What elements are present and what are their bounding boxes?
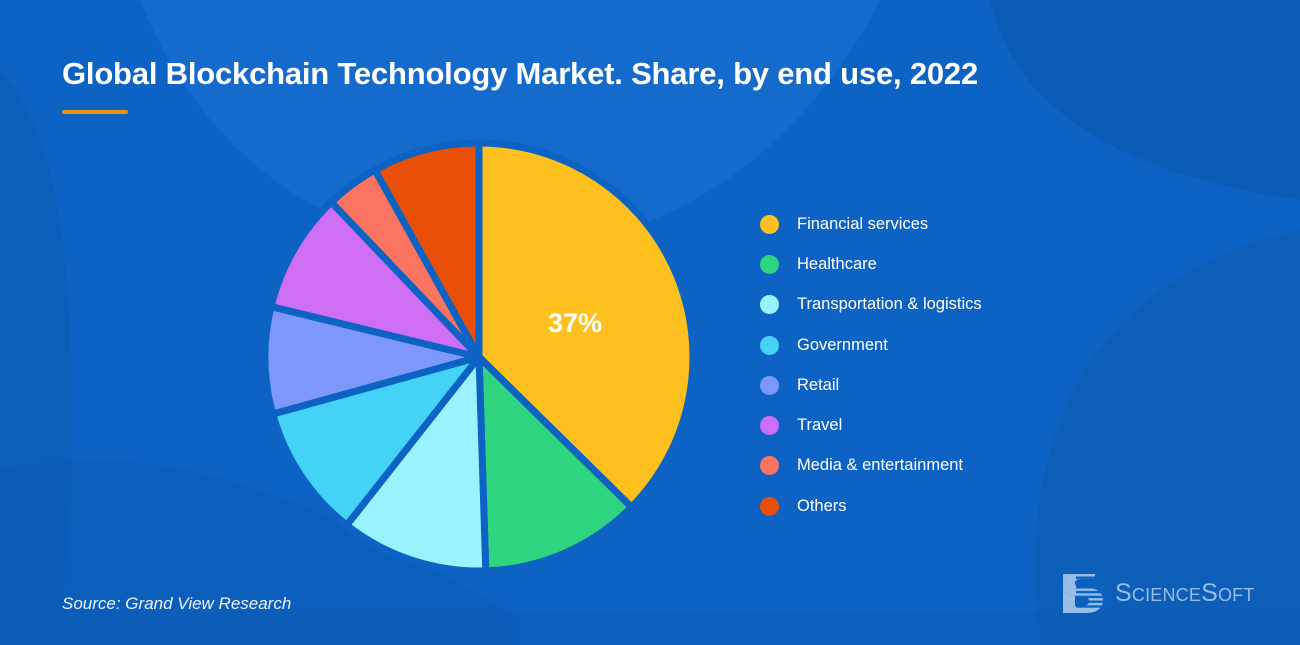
legend-item-label: Healthcare: [797, 255, 877, 274]
slice-value-label: 37%: [548, 308, 602, 339]
legend-item[interactable]: Healthcare: [760, 244, 982, 284]
title-accent-underline: [62, 110, 128, 114]
legend-swatch-icon: [760, 295, 779, 314]
legend-swatch-icon: [760, 215, 779, 234]
brand-logo-text: ScienceSoft: [1115, 579, 1255, 608]
legend-swatch-icon: [760, 416, 779, 435]
source-note: Source: Grand View Research: [62, 594, 291, 614]
legend-item-label: Travel: [797, 416, 842, 435]
legend-swatch-icon: [760, 376, 779, 395]
pie-chart: Financial services: 37%Healthcare: 12%Tr…: [255, 135, 705, 585]
legend-swatch-icon: [760, 497, 779, 516]
legend-item-label: Retail: [797, 376, 839, 395]
legend-item-label: Transportation & logistics: [797, 295, 982, 314]
legend-swatch-icon: [760, 336, 779, 355]
legend-item-label: Media & entertainment: [797, 456, 963, 475]
pie-slice-group: Financial services: 37%Healthcare: 12%Tr…: [265, 143, 693, 571]
legend-item[interactable]: Government: [760, 325, 982, 365]
legend: Financial servicesHealthcareTransportati…: [760, 204, 982, 526]
legend-item[interactable]: Transportation & logistics: [760, 285, 982, 325]
legend-item[interactable]: Others: [760, 486, 982, 526]
legend-swatch-icon: [760, 255, 779, 274]
legend-item-label: Others: [797, 497, 847, 516]
legend-swatch-icon: [760, 456, 779, 475]
legend-item[interactable]: Financial services: [760, 204, 982, 244]
sciencesoft-s-mark-icon: [1062, 572, 1106, 614]
chart-canvas: Global Blockchain Technology Market. Sha…: [0, 0, 1300, 645]
brand-logo: ScienceSoft: [1062, 572, 1255, 614]
page-title: Global Blockchain Technology Market. Sha…: [62, 56, 978, 92]
legend-item-label: Financial services: [797, 215, 928, 234]
legend-item[interactable]: Retail: [760, 365, 982, 405]
legend-item[interactable]: Media & entertainment: [760, 446, 982, 486]
legend-item[interactable]: Travel: [760, 405, 982, 445]
pie-svg: Financial services: 37%Healthcare: 12%Tr…: [255, 135, 705, 585]
legend-item-label: Government: [797, 336, 888, 355]
